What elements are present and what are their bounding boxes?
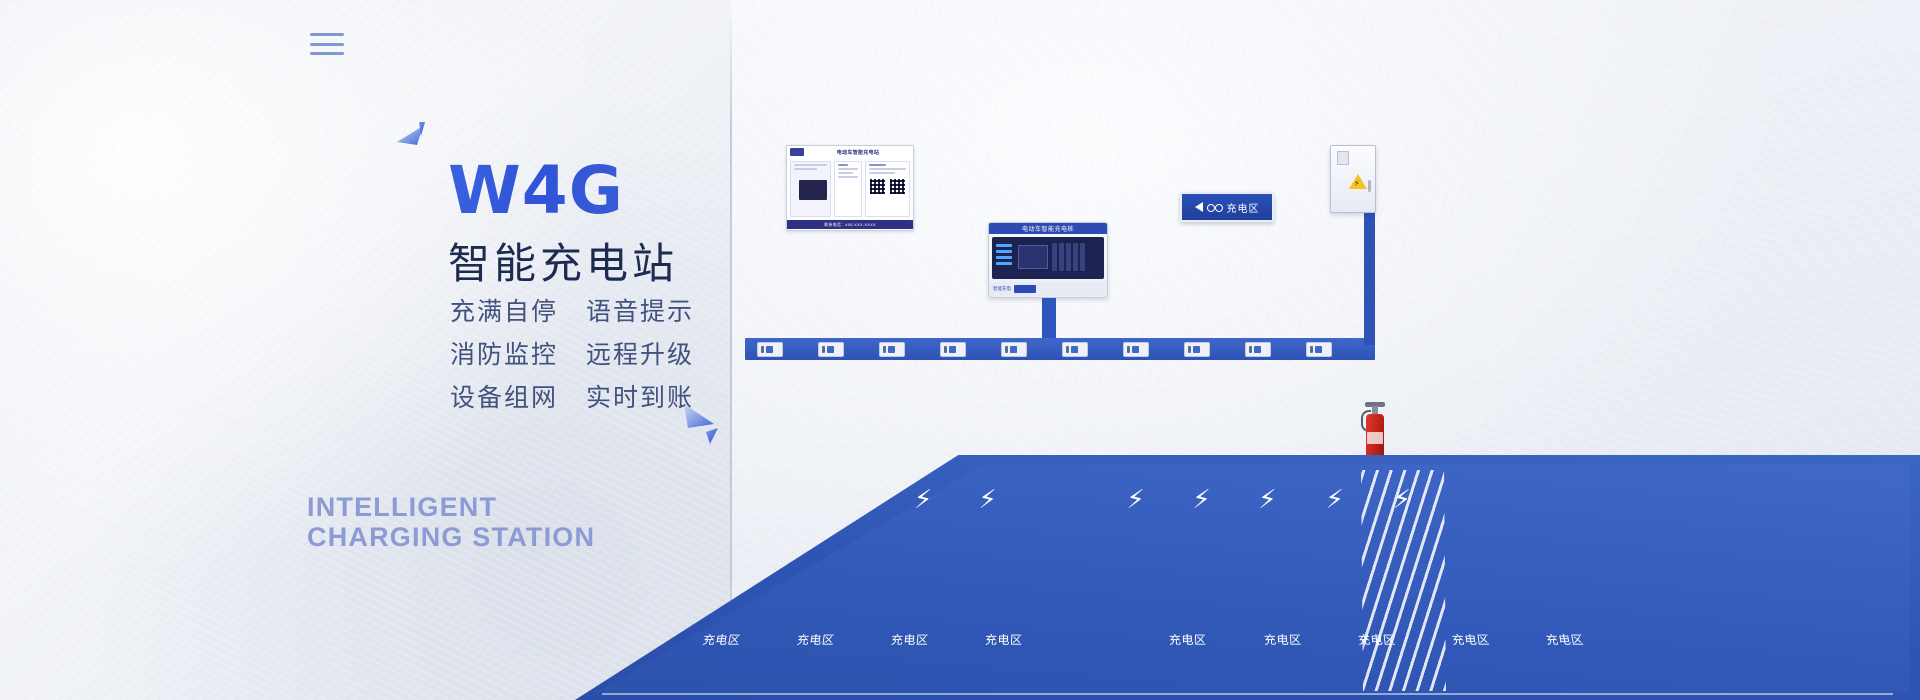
charging-port[interactable] [1066, 243, 1071, 271]
status-led [996, 256, 1012, 259]
power-socket-icon[interactable] [1306, 342, 1332, 357]
charging-plug-icon: ⚡ [1258, 484, 1276, 515]
power-socket-icon[interactable] [818, 342, 844, 357]
charging-plug-icon: ⚡ [1326, 484, 1344, 515]
charging-plug-icon: ⚡ [1126, 484, 1144, 515]
page-subtitle: 智能充电站 [448, 230, 678, 291]
poster-text-line [838, 164, 849, 166]
high-voltage-warning-icon [1349, 174, 1367, 189]
charging-port[interactable] [1052, 243, 1057, 271]
exit-sign: 充电区 [1180, 192, 1274, 222]
poster-footer-text: 联系电话：400-XXX-XXXX [824, 222, 875, 228]
poster-text-line [838, 176, 858, 178]
power-socket-icon[interactable] [757, 342, 783, 357]
poster-column-right [865, 161, 910, 217]
charging-pile-screen[interactable] [1018, 245, 1048, 269]
charging-pile-panel [992, 237, 1104, 279]
power-socket-icon[interactable] [1062, 342, 1088, 357]
poster-text-line [869, 168, 906, 170]
english-line-2: CHARGING STATION [307, 522, 595, 552]
poster-text-line [869, 164, 886, 166]
cabinet-handle[interactable] [1368, 180, 1371, 192]
poster-title: 电动车智能充电站 [806, 149, 910, 156]
status-led [996, 262, 1012, 265]
poster-device-photo [799, 180, 827, 200]
charging-pile-badge [1014, 285, 1036, 293]
bay-label: 充电区 [1169, 631, 1207, 648]
bay-label: 充电区 [890, 631, 929, 648]
bay-label: 充电区 [796, 631, 836, 648]
power-socket-icon[interactable] [1184, 342, 1210, 357]
cabinet-meter-window [1337, 151, 1349, 165]
poster-footer: 联系电话：400-XXX-XXXX [787, 220, 913, 229]
poster-column-middle [834, 161, 862, 217]
charging-port-group [1052, 243, 1085, 271]
feature-item-4: 设备组网 [450, 378, 558, 414]
power-distribution-cabinet [1330, 145, 1376, 213]
charging-pile-title: 电动车智能充电桩 [989, 223, 1107, 234]
bay-label: 充电区 [1545, 631, 1586, 648]
socket-rail-riser [1364, 190, 1375, 345]
power-socket-icon[interactable] [879, 342, 905, 357]
poster-text-line [869, 172, 895, 174]
poster-logo-icon [790, 148, 804, 156]
extinguisher-label [1367, 432, 1383, 444]
feature-item-5: 实时到账 [586, 378, 694, 414]
poster-text-line [794, 168, 817, 170]
menu-bar-3 [310, 52, 344, 55]
power-socket-icon[interactable] [1245, 342, 1271, 357]
hero-banner: W4G 智能充电站 充满自停 语音提示 消防监控 远程升级 设备组网 实时到账 … [0, 0, 1920, 700]
bay-label: 充电区 [985, 631, 1023, 648]
charging-port[interactable] [1073, 243, 1078, 271]
lot-edge-line [602, 693, 1893, 695]
e-bike-icon [1207, 203, 1223, 212]
poster-text-line [794, 164, 827, 166]
hero-heading-group: W4G 智能充电站 [448, 158, 678, 291]
bay-label: 充电区 [1451, 631, 1491, 648]
charging-port[interactable] [1080, 243, 1085, 271]
power-socket-icon[interactable] [1001, 342, 1027, 357]
wall-corner-edge [730, 0, 732, 700]
left-arrow-icon [1195, 202, 1203, 212]
poster-column-left [790, 161, 831, 217]
poster-text-line [838, 172, 854, 174]
charging-port[interactable] [1059, 243, 1064, 271]
charging-pile-footer: 智能充电 [989, 282, 1107, 296]
poster-text-line [838, 168, 858, 170]
charging-pile: 电动车智能充电桩 智能充电 [988, 222, 1108, 298]
feature-item-2: 消防监控 [450, 335, 558, 371]
bay-label: 充电区 [701, 631, 742, 648]
bay-label: 充电区 [1263, 631, 1302, 648]
fire-extinguisher [1364, 400, 1386, 462]
feature-item-1: 语音提示 [586, 292, 694, 328]
feature-item-0: 充满自停 [450, 292, 558, 328]
charging-plug-icon: ⚡ [1393, 484, 1411, 515]
feature-item-3: 远程升级 [586, 335, 694, 371]
poster-header: 电动车智能充电站 [787, 146, 913, 158]
exit-sign-label: 充电区 [1227, 200, 1260, 215]
charging-pile-pole [1042, 298, 1056, 343]
charging-plug-icon: ⚡ [1192, 484, 1210, 515]
english-tagline: INTELLIGENT CHARGING STATION [307, 492, 595, 552]
status-led-group [996, 244, 1012, 265]
hamburger-menu-icon[interactable] [310, 33, 344, 55]
poster-body [787, 158, 913, 220]
menu-bar-2 [310, 43, 344, 46]
wall-poster: 电动车智能充电站 [786, 145, 914, 231]
charging-plug-icon: ⚡ [979, 484, 997, 515]
page-title: W4G [448, 158, 678, 224]
feature-list: 充满自停 语音提示 消防监控 远程升级 设备组网 实时到账 [450, 292, 694, 414]
power-socket-icon[interactable] [1123, 342, 1149, 357]
qr-code-icon [889, 178, 906, 195]
menu-bar-1 [310, 33, 344, 36]
charging-plug-icon: ⚡ [914, 484, 932, 515]
status-led [996, 250, 1012, 253]
english-line-1: INTELLIGENT [307, 492, 595, 522]
status-led [996, 244, 1012, 247]
qr-code-icon [869, 178, 886, 195]
charging-pile-brand: 智能充电 [993, 286, 1011, 292]
power-socket-icon[interactable] [940, 342, 966, 357]
bay-label: 充电区 [1357, 631, 1396, 648]
